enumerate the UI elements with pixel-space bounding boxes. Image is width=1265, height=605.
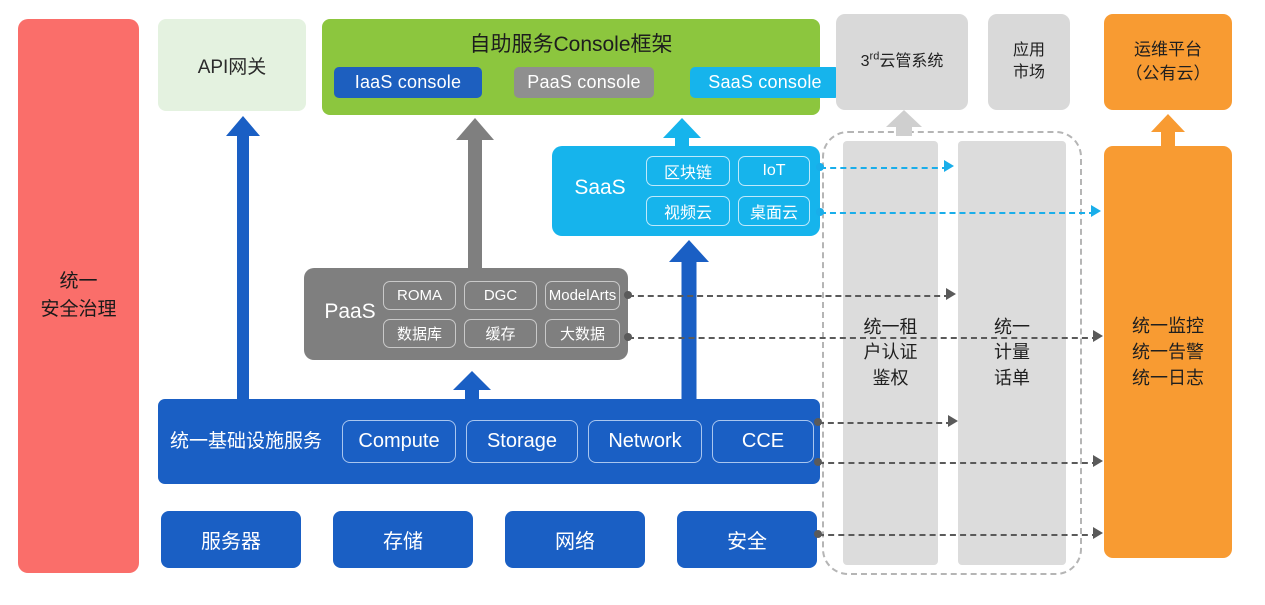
console-frame-title: 自助服务Console框架: [322, 28, 820, 58]
paas-service-database[interactable]: 数据库: [383, 319, 456, 348]
dashed-saas-to-auth: [820, 167, 948, 169]
arrow-infra-to-saas: [669, 240, 709, 401]
app-market-line1: 应用: [1013, 40, 1045, 62]
infrastructure-label: 统一基础设施服务: [170, 426, 322, 453]
arrowhead-infra-to-ops: [1093, 455, 1103, 467]
app-market-label: 应用 市场: [1013, 40, 1045, 83]
iaas-console-button[interactable]: IaaS console: [334, 67, 482, 98]
api-gateway-label: API网关: [198, 52, 267, 79]
arrowhead-paas-to-ops: [1093, 330, 1103, 342]
dashed-saas-to-ops: [820, 212, 1095, 214]
arrow-ops-column-to-ops-platform: [1151, 114, 1185, 146]
resource-tile-storage[interactable]: 存储: [333, 511, 473, 568]
auth-line2: 户认证: [864, 340, 918, 365]
paas-console-button[interactable]: PaaS console: [514, 67, 654, 98]
unified-tenant-auth-column[interactable]: 统一租 户认证 鉴权: [843, 141, 938, 565]
arrow-infra-to-api-gateway: [226, 116, 260, 401]
saas-service-video-cloud[interactable]: 视频云: [646, 196, 730, 226]
metering-line2: 计量: [994, 340, 1030, 365]
ops-col-line1: 统一监控: [1132, 313, 1204, 339]
auth-column-label: 统一租 户认证 鉴权: [864, 315, 918, 391]
paas-service-bigdata[interactable]: 大数据: [545, 319, 620, 348]
paas-service-modelarts[interactable]: ModelArts: [545, 281, 620, 310]
unified-metering-billing-column[interactable]: 统一 计量 话单: [958, 141, 1066, 565]
arrowhead-resources-to-ops: [1093, 527, 1103, 539]
third-party-suffix: 云管系统: [879, 53, 943, 70]
arrowhead-saas-to-ops: [1091, 205, 1101, 217]
app-market-line2: 市场: [1013, 62, 1045, 84]
metering-line3: 话单: [994, 366, 1030, 391]
paas-service-dgc[interactable]: DGC: [464, 281, 537, 310]
dashed-paas-to-ops: [628, 337, 1098, 339]
arrow-saas-to-saas-console: [663, 118, 701, 148]
ops-platform-box[interactable]: 运维平台 （公有云）: [1104, 14, 1232, 110]
infra-service-storage[interactable]: Storage: [466, 420, 578, 463]
infra-service-cce[interactable]: CCE: [712, 420, 814, 463]
resource-tile-network[interactable]: 网络: [505, 511, 645, 568]
infra-service-compute[interactable]: Compute: [342, 420, 456, 463]
third-party-cloud-management-box[interactable]: 3rd云管系统: [836, 14, 968, 110]
saas-console-button[interactable]: SaaS console: [690, 67, 840, 98]
ops-platform-line2: （公有云）: [1126, 62, 1211, 86]
paas-layer-band[interactable]: PaaS ROMA DGC ModelArts 数据库 缓存 大数据: [304, 268, 628, 360]
arrowhead-paas-to-auth: [946, 288, 956, 300]
unified-infrastructure-bar[interactable]: 统一基础设施服务 Compute Storage Network CCE: [158, 399, 820, 484]
arrow-shared-to-third-party: [886, 110, 922, 136]
third-party-superscript: rd: [870, 51, 880, 63]
paas-service-cache[interactable]: 缓存: [464, 319, 537, 348]
ops-column-label: 统一监控 统一告警 统一日志: [1132, 313, 1204, 391]
dashed-paas-to-auth: [628, 295, 950, 297]
arrow-paas-to-console: [456, 118, 494, 270]
security-panel-label: 统一 安全治理: [40, 268, 116, 323]
ops-col-line2: 统一告警: [1132, 339, 1204, 365]
ops-platform-label: 运维平台 （公有云）: [1126, 38, 1211, 86]
saas-service-iot[interactable]: IoT: [738, 156, 810, 186]
saas-service-blockchain[interactable]: 区块链: [646, 156, 730, 186]
third-party-label: 3rd云管系统: [861, 51, 944, 73]
self-service-console-frame[interactable]: 自助服务Console框架 IaaS console PaaS console …: [322, 19, 820, 115]
saas-layer-band[interactable]: SaaS 区块链 IoT 视频云 桌面云: [552, 146, 820, 236]
metering-column-label: 统一 计量 话单: [994, 315, 1030, 391]
dashed-infra-to-meter: [818, 422, 952, 424]
auth-line3: 鉴权: [864, 366, 918, 391]
infra-service-network[interactable]: Network: [588, 420, 702, 463]
arrowhead-infra-to-meter: [948, 415, 958, 427]
paas-layer-label: PaaS: [314, 300, 386, 324]
arrow-infra-to-paas: [453, 371, 491, 401]
architecture-diagram: 统一 安全治理 API网关 自助服务Console框架 IaaS console…: [0, 0, 1265, 605]
api-gateway-box[interactable]: API网关: [158, 19, 306, 111]
security-label-line2: 安全治理: [40, 296, 116, 324]
resource-tile-security[interactable]: 安全: [677, 511, 817, 568]
third-party-prefix: 3: [861, 53, 870, 70]
saas-layer-label: SaaS: [564, 176, 636, 200]
unified-monitoring-column[interactable]: 统一监控 统一告警 统一日志: [1104, 146, 1232, 558]
resource-tile-server[interactable]: 服务器: [161, 511, 301, 568]
unified-security-governance-panel[interactable]: 统一 安全治理: [18, 19, 139, 573]
dashed-infra-to-ops: [818, 462, 1098, 464]
app-market-box[interactable]: 应用 市场: [988, 14, 1070, 110]
saas-service-desktop-cloud[interactable]: 桌面云: [738, 196, 810, 226]
paas-service-roma[interactable]: ROMA: [383, 281, 456, 310]
dashed-resources-to-ops: [818, 534, 1098, 536]
arrowhead-saas-to-auth: [944, 160, 954, 172]
security-label-line1: 统一: [40, 268, 116, 296]
ops-platform-line1: 运维平台: [1126, 38, 1211, 62]
ops-col-line3: 统一日志: [1132, 365, 1204, 391]
